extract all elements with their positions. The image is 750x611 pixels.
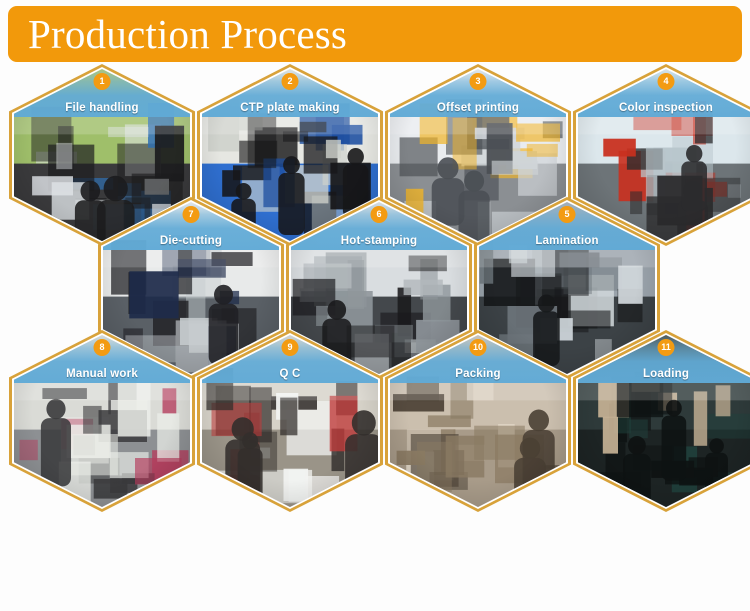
step-number-badge: 6 [371, 206, 388, 223]
step-number-badge: 4 [658, 73, 675, 90]
step-number-badge: 10 [470, 339, 487, 356]
step-number-badge: 5 [559, 206, 576, 223]
step-number-badge: 11 [658, 339, 675, 356]
step-number-badge: 3 [470, 73, 487, 90]
production-process-infographic: Production Process File handling1 CTP pl… [0, 0, 750, 611]
step-number-badge: 2 [282, 73, 299, 90]
page-title: Production Process [8, 14, 347, 55]
step-photo: Loading11 [578, 335, 750, 507]
step-number-badge: 9 [282, 339, 299, 356]
step-number-badge: 1 [94, 73, 111, 90]
step-photo: Color inspection4 [578, 69, 750, 241]
process-step-grid: File handling1 CTP plate making2 Offset … [0, 62, 750, 611]
step-number-badge: 7 [183, 206, 200, 223]
step-number-badge: 8 [94, 339, 111, 356]
title-banner: Production Process [8, 6, 742, 62]
